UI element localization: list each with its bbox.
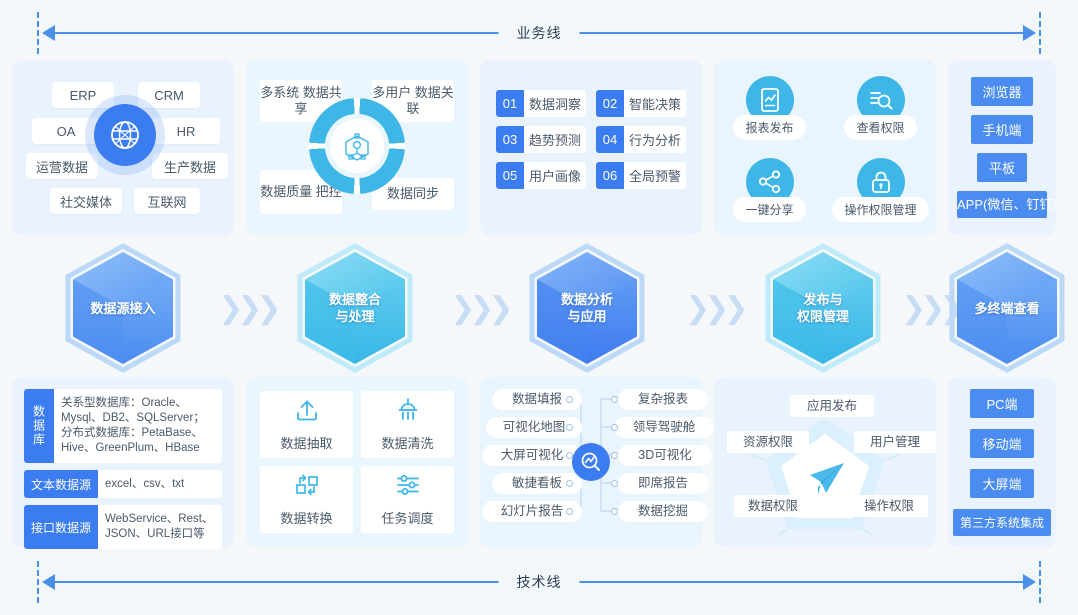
etl-tile-transform[interactable]: 数据转换	[260, 466, 353, 533]
publish-label-view-permission: 查看权限	[844, 115, 916, 140]
analysis-item-06[interactable]: 06 全局预警	[596, 162, 686, 189]
app-node-dot	[611, 508, 618, 515]
app-label-adhoc-report[interactable]: 即席报告	[618, 473, 708, 494]
permission-label-user-mgmt[interactable]: 用户管理	[854, 431, 936, 453]
source-chip-internet[interactable]: 互联网	[134, 188, 200, 214]
panel-publish-permissions: 报表发布 查看权限	[714, 60, 936, 235]
app-label-data-mining[interactable]: 数据挖掘	[618, 501, 708, 522]
stage-4[interactable]: 发布与 权限管理	[758, 243, 888, 373]
source-chip-crm[interactable]: CRM	[138, 82, 200, 108]
datasource-key-text: 文本数据源	[24, 470, 98, 498]
analysis-item-04[interactable]: 04 行为分析	[596, 126, 686, 153]
axis-dash-right	[1039, 12, 1041, 54]
arrow-head-right-icon	[1023, 574, 1036, 590]
app-label-complex-report[interactable]: 复杂报表	[618, 389, 708, 410]
source-chip-operations[interactable]: 运营数据	[26, 153, 98, 179]
terminal-tag-mobile[interactable]: 手机端	[971, 115, 1033, 144]
publish-item-operation-permission[interactable]: 操作权限管理	[825, 148, 936, 236]
stage-4-label: 发布与 权限管理	[764, 243, 882, 373]
terminal-tag-app[interactable]: APP(微信、钉钉)	[957, 191, 1047, 218]
business-line-label: 业务线	[499, 21, 580, 45]
analysis-item-01[interactable]: 01 数据洞察	[496, 90, 586, 117]
analysis-number-02: 02	[596, 90, 624, 117]
arrow-head-right-icon	[1023, 25, 1036, 41]
source-chip-production[interactable]: 生产数据	[152, 153, 228, 179]
device-tag-thirdparty[interactable]: 第三方系统集成	[953, 509, 1051, 536]
app-node-dot	[566, 508, 573, 515]
permission-label-resource[interactable]: 资源权限	[727, 431, 809, 453]
datasource-key-database: 数据库	[24, 389, 54, 463]
stage-5-label: 多终端查看	[948, 243, 1066, 373]
upload-icon	[294, 397, 320, 426]
app-node-dot	[611, 480, 618, 487]
device-tag-pc[interactable]: PC端	[970, 389, 1034, 418]
analysis-label-01: 数据洞察	[524, 90, 586, 117]
panel-devices: PC端 移动端 大屏端 第三方系统集成	[948, 377, 1056, 547]
broom-clean-icon	[395, 397, 421, 426]
globe-network-icon	[94, 104, 156, 166]
datasource-value-database: 关系型数据库：Oracle、Mysql、DB2、SQLServer； 分布式数据…	[54, 389, 222, 463]
stage-3-label: 数据分析 与应用	[528, 243, 646, 373]
axis-dash-left	[37, 561, 39, 603]
datasource-value-api: WebService、Rest、JSON、URL接口等	[98, 505, 222, 549]
bottom-panel-row: 数据库 关系型数据库：Oracle、Mysql、DB2、SQLServer； 分…	[0, 377, 1078, 547]
publish-item-view-permission[interactable]: 查看权限	[825, 66, 936, 154]
arrow-head-left-icon	[42, 25, 55, 41]
panel-datasource-detail: 数据库 关系型数据库：Oracle、Mysql、DB2、SQLServer； 分…	[12, 377, 234, 547]
etl-label-transform: 数据转换	[280, 508, 332, 527]
stage-3[interactable]: 数据分析 与应用	[522, 243, 652, 373]
permission-label-data[interactable]: 数据权限	[734, 495, 812, 517]
datasource-row-api[interactable]: 接口数据源 WebService、Rest、JSON、URL接口等	[24, 505, 222, 549]
analysis-label-02: 智能决策	[624, 90, 686, 117]
app-node-dot	[611, 452, 618, 459]
analysis-item-02[interactable]: 02 智能决策	[596, 90, 686, 117]
permission-label-operation[interactable]: 操作权限	[850, 495, 928, 517]
analytics-search-icon	[572, 443, 610, 481]
stage-1-label: 数据源接入	[64, 243, 182, 373]
analysis-number-05: 05	[496, 162, 524, 189]
publish-item-report[interactable]: 报表发布	[714, 66, 825, 154]
datasource-row-text[interactable]: 文本数据源 excel、csv、txt	[24, 470, 222, 498]
app-node-dot	[566, 480, 573, 487]
panel-terminals: 浏览器 手机端 平板 APP(微信、钉钉)	[948, 60, 1056, 235]
sliders-icon	[395, 472, 421, 501]
panel-data-sources: ERP CRM OA HR 运营数据 生产数据 社交媒体 互联网	[12, 60, 234, 235]
stage-1[interactable]: 数据源接入	[58, 243, 188, 373]
source-chip-erp[interactable]: ERP	[52, 82, 114, 108]
panel-data-integration: 多系统 数据共享 多用户 数据关联 数据质量 把控 数据同步	[246, 60, 468, 235]
transform-swap-icon	[294, 472, 320, 501]
app-node-dot	[566, 396, 573, 403]
panel-data-analysis: 01 数据洞察 02 智能决策 03 趋势预测 04 行为分析 05 用户画	[480, 60, 702, 235]
panel-applications: 数据填报 可视化地图 大屏可视化 敏捷看板 幻灯片报告 复杂报表 领导驾驶舱 3…	[480, 377, 702, 547]
analysis-number-04: 04	[596, 126, 624, 153]
terminal-tag-tablet[interactable]: 平板	[977, 153, 1027, 182]
publish-label-report: 报表发布	[733, 115, 805, 140]
business-line-axis: 业务线	[0, 12, 1078, 54]
datasource-row-database[interactable]: 数据库 关系型数据库：Oracle、Mysql、DB2、SQLServer； 分…	[24, 389, 222, 463]
etl-tile-schedule[interactable]: 任务调度	[361, 466, 454, 533]
axis-dash-left	[37, 12, 39, 54]
technology-line-axis: 技术线	[0, 561, 1078, 603]
app-node-dot	[611, 424, 618, 431]
technology-line-label: 技术线	[499, 570, 580, 594]
analysis-label-03: 趋势预测	[524, 126, 586, 153]
analysis-label-06: 全局预警	[624, 162, 686, 189]
etl-tile-clean[interactable]: 数据清洗	[361, 391, 454, 458]
analysis-item-03[interactable]: 03 趋势预测	[496, 126, 586, 153]
terminal-tag-browser[interactable]: 浏览器	[971, 77, 1033, 106]
flow-chevron-2-icon: ❯❯❯	[447, 291, 511, 325]
app-node-dot	[611, 396, 618, 403]
permission-label-app-publish[interactable]: 应用发布	[790, 395, 874, 417]
panel-permission-detail: 应用发布 资源权限 用户管理 数据权限 操作权限	[714, 377, 936, 547]
analysis-label-05: 用户画像	[524, 162, 586, 189]
etl-label-extract: 数据抽取	[280, 433, 332, 452]
etl-tile-extract[interactable]: 数据抽取	[260, 391, 353, 458]
app-label-3d-visual[interactable]: 3D可视化	[618, 445, 712, 466]
stage-flow-row: 数据源接入 ❯❯❯ 数据整合 与处理 ❯❯❯	[0, 243, 1078, 373]
stage-5[interactable]: 多终端查看	[942, 243, 1072, 373]
device-tag-mobile[interactable]: 移动端	[970, 429, 1034, 458]
analysis-number-06: 06	[596, 162, 624, 189]
top-panel-row: ERP CRM OA HR 运营数据 生产数据 社交媒体 互联网	[0, 60, 1078, 235]
datasource-key-api: 接口数据源	[24, 505, 98, 549]
stage-2-label: 数据整合 与处理	[296, 243, 414, 373]
publish-item-share[interactable]: 一键分享	[714, 148, 825, 236]
data-node-cube-icon	[342, 131, 372, 170]
analysis-number-01: 01	[496, 90, 524, 117]
axis-dash-right	[1039, 561, 1041, 603]
publish-label-share: 一键分享	[733, 197, 805, 222]
source-chip-oa[interactable]: OA	[32, 118, 100, 144]
etl-label-schedule: 任务调度	[381, 508, 433, 527]
analysis-label-04: 行为分析	[624, 126, 686, 153]
stage-2[interactable]: 数据整合 与处理	[290, 243, 420, 373]
device-tag-bigscreen[interactable]: 大屏端	[970, 469, 1034, 498]
source-chip-social[interactable]: 社交媒体	[50, 188, 122, 214]
app-node-dot	[566, 424, 573, 431]
datasource-value-text: excel、csv、txt	[98, 470, 222, 498]
analysis-item-05[interactable]: 05 用户画像	[496, 162, 586, 189]
analysis-number-03: 03	[496, 126, 524, 153]
etl-label-clean: 数据清洗	[381, 433, 433, 452]
arrow-head-left-icon	[42, 574, 55, 590]
app-label-executive-cockpit[interactable]: 领导驾驶舱	[614, 417, 714, 438]
panel-etl: 数据抽取 数据清洗	[246, 377, 468, 547]
flow-chevron-1-icon: ❯❯❯	[215, 291, 279, 325]
flow-chevron-3-icon: ❯❯❯	[682, 291, 746, 325]
source-chip-hr[interactable]: HR	[152, 118, 220, 144]
publish-label-operation-permission: 操作权限管理	[832, 197, 928, 222]
